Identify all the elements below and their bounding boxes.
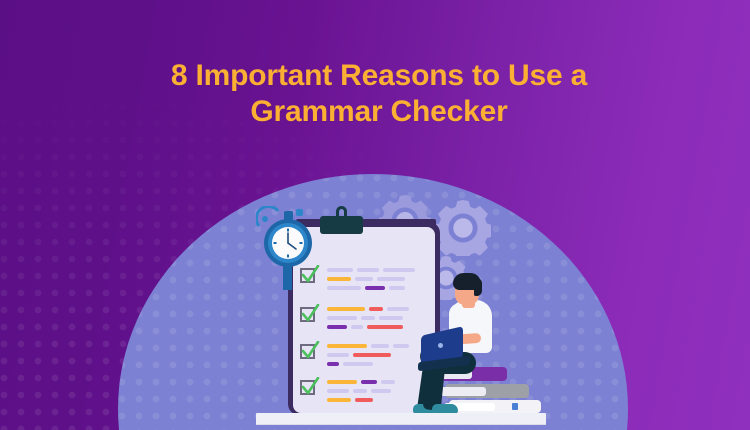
checklist-row-3-line-1-seg-2 xyxy=(371,344,389,348)
checklist-row-4-line-3-seg-2 xyxy=(355,398,373,402)
checklist-row-2-line-2-seg-2 xyxy=(361,316,375,320)
checklist-row-1-line-1-seg-2 xyxy=(357,268,379,272)
checklist-row-1-line-1-seg-1 xyxy=(327,268,353,272)
checklist-row-2-line-3-seg-1 xyxy=(327,325,347,329)
checklist-row-3-line-3-seg-2 xyxy=(343,362,373,366)
checklist-row-2-line-2-seg-1 xyxy=(327,316,357,320)
checklist-row-4-line-1-seg-2 xyxy=(361,380,377,384)
person-hair-side xyxy=(474,278,482,296)
checklist-row-2-line-1-seg-1 xyxy=(327,307,365,311)
checklist-row-4-line-2-seg-2 xyxy=(353,389,367,393)
ground-bar xyxy=(256,413,546,424)
laptop-logo-icon xyxy=(438,343,443,348)
gear-large-right-icon xyxy=(435,200,491,256)
checklist-row-4-line-1-seg-3 xyxy=(381,380,395,384)
checklist-row-3-checkmark-icon xyxy=(301,341,321,361)
checklist-row-3-line-1-seg-1 xyxy=(327,344,367,348)
page-title-line-1: 8 Important Reasons to Use a xyxy=(8,58,750,94)
page-title: 8 Important Reasons to Use a Grammar Che… xyxy=(0,58,750,130)
checklist-row-1-line-2-seg-2 xyxy=(355,277,373,281)
checklist-row-3-line-2-seg-2 xyxy=(353,353,391,357)
stopwatch-deco-square xyxy=(296,209,303,216)
checklist-row-4-checkmark-icon xyxy=(301,377,321,397)
checklist-row-2-line-3-seg-3 xyxy=(367,325,403,329)
checklist-row-2-line-3-seg-2 xyxy=(351,325,363,329)
checklist-row-4-line-1-seg-1 xyxy=(327,380,357,384)
page-title-line-2: Grammar Checker xyxy=(8,94,750,130)
stopwatch-hands-icon xyxy=(272,227,304,259)
banner-graphic: 8 Important Reasons to Use a Grammar Che… xyxy=(0,0,750,430)
checklist-row-4-line-3-seg-1 xyxy=(327,398,351,402)
checklist-row-1-checkmark-icon xyxy=(301,265,321,285)
checklist-row-1-line-2-seg-3 xyxy=(377,277,405,281)
checklist-row-2-checkmark-icon xyxy=(301,304,321,324)
checklist-row-1-line-2-seg-1 xyxy=(327,277,351,281)
checklist-row-1-line-1-seg-3 xyxy=(383,268,415,272)
clipboard-clip xyxy=(320,216,363,234)
checklist-row-1-line-3-seg-3 xyxy=(389,286,405,290)
book-gray-pages xyxy=(440,387,486,396)
stopwatch-stand xyxy=(283,266,292,290)
checklist-row-2-line-2-seg-3 xyxy=(379,316,403,320)
checklist-row-4-line-2-seg-1 xyxy=(327,389,349,393)
book-white-bookmark xyxy=(512,403,518,410)
checklist-row-2-line-1-seg-3 xyxy=(387,307,409,311)
checklist-row-2-line-1-seg-2 xyxy=(369,307,383,311)
checklist-row-1-line-3-seg-1 xyxy=(327,286,361,290)
checklist-row-3-line-2-seg-1 xyxy=(327,353,349,357)
checklist-row-3-line-3-seg-1 xyxy=(327,362,339,366)
checklist-row-1-line-3-seg-2 xyxy=(365,286,385,290)
checklist-row-3-line-1-seg-3 xyxy=(393,344,409,348)
checklist-row-4-line-2-seg-3 xyxy=(371,389,391,393)
clipboard-top-bar xyxy=(296,219,436,227)
